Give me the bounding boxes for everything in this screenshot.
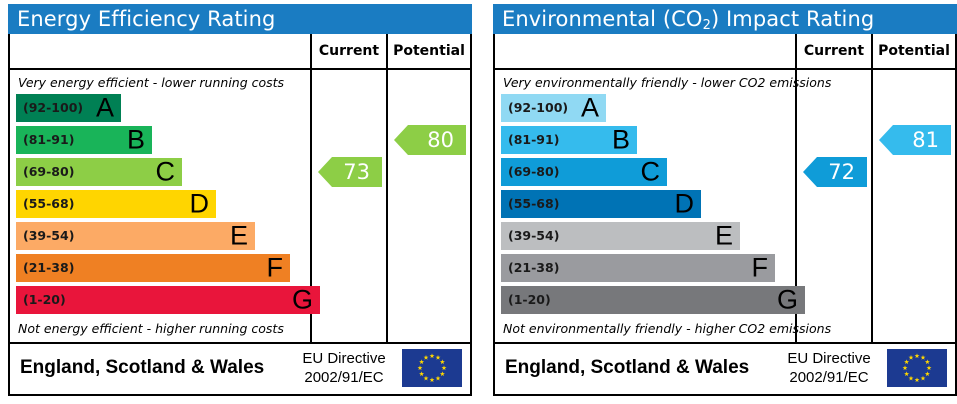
environmental-directive-line1: EU Directive [773, 349, 885, 368]
band-row-a: (92-100) A [501, 94, 606, 122]
environmental-current-rating-arrow: 72 [803, 157, 867, 187]
band-range-g: (1-20) [23, 286, 66, 314]
energy-current-rating-arrow: 73 [318, 157, 382, 187]
band-range-b: (81-91) [508, 126, 559, 154]
environmental-caption-top: Very environmentally friendly - lower CO… [503, 72, 793, 94]
column-divider-2 [871, 34, 873, 342]
environmental-caption-bottom: Not environmentally friendly - higher CO… [503, 318, 793, 340]
energy-potential-value: 80 [427, 128, 454, 152]
environmental-band-list: (92-100) A (81-91) B (69-80) C (55-68) D… [495, 94, 795, 318]
band-letter-b: B [612, 127, 630, 154]
energy-efficiency-title-text: Energy Efficiency Rating [17, 7, 275, 31]
band-row-c: (69-80) C [16, 158, 182, 186]
band-row-d: (55-68) D [16, 190, 216, 218]
band-range-f: (21-38) [23, 254, 74, 282]
band-row-g: (1-20) G [16, 286, 320, 314]
environmental-impact-table: Current Potential Very environmentally f… [493, 34, 957, 344]
energy-efficiency-panel: Energy Efficiency Rating Current Potenti… [8, 4, 472, 400]
energy-directive-line2: 2002/91/EC [288, 368, 400, 387]
environmental-footer: England, Scotland & Wales EU Directive 2… [493, 344, 957, 396]
environmental-current-value: 72 [828, 160, 855, 184]
energy-efficiency-table: Current Potential Very energy efficient … [8, 34, 472, 344]
band-row-b: (81-91) B [501, 126, 637, 154]
band-row-g: (1-20) G [501, 286, 805, 314]
environmental-title-suffix: ) Impact Rating [711, 7, 874, 31]
band-letter-e: E [715, 223, 733, 250]
environmental-caption-top-text: Very environmentally friendly - lower CO… [503, 75, 831, 90]
energy-footer: England, Scotland & Wales EU Directive 2… [8, 344, 472, 396]
header-potential: Potential [388, 34, 470, 68]
energy-caption-top: Very energy efficient - lower running co… [18, 72, 308, 94]
band-row-f: (21-38) F [16, 254, 290, 282]
band-row-b: (81-91) B [16, 126, 152, 154]
environmental-impact-panel: Environmental (CO2) Impact Rating Curren… [493, 4, 957, 400]
band-letter-c: C [641, 159, 661, 186]
environmental-potential-rating-arrow: 81 [879, 125, 951, 155]
band-row-d: (55-68) D [501, 190, 701, 218]
band-range-b: (81-91) [23, 126, 74, 154]
environmental-directive-line2: 2002/91/EC [773, 368, 885, 387]
eu-flag-icon [402, 349, 462, 387]
energy-band-list: (92-100) A (81-91) B (69-80) C (55-68) D… [10, 94, 310, 318]
energy-table-header-row: Current Potential [10, 34, 470, 70]
environmental-title-prefix: Environmental (CO [502, 7, 703, 31]
band-letter-g: G [292, 287, 313, 314]
band-letter-c: C [156, 159, 176, 186]
band-letter-e: E [230, 223, 248, 250]
band-letter-g: G [777, 287, 798, 314]
band-letter-d: D [675, 191, 695, 218]
band-range-g: (1-20) [508, 286, 551, 314]
band-range-d: (55-68) [23, 190, 74, 218]
band-range-a: (92-100) [23, 94, 83, 122]
band-letter-a: A [96, 95, 114, 122]
energy-caption-bottom: Not energy efficient - higher running co… [18, 318, 308, 340]
band-row-f: (21-38) F [501, 254, 775, 282]
column-divider-2 [386, 34, 388, 342]
band-letter-f: F [752, 255, 769, 282]
band-range-c: (69-80) [23, 158, 74, 186]
band-range-e: (39-54) [23, 222, 74, 250]
band-letter-a: A [581, 95, 599, 122]
header-current: Current [312, 34, 386, 68]
environmental-table-header-row: Current Potential [495, 34, 955, 70]
environmental-title-subscript: 2 [703, 18, 711, 33]
band-range-d: (55-68) [508, 190, 559, 218]
environmental-potential-value: 81 [912, 128, 939, 152]
band-range-e: (39-54) [508, 222, 559, 250]
eu-flag-stars [887, 349, 947, 387]
epc-ratings-page: Energy Efficiency Rating Current Potenti… [0, 0, 957, 404]
eu-flag-stars [402, 349, 462, 387]
band-letter-f: F [267, 255, 284, 282]
header-potential: Potential [873, 34, 955, 68]
band-row-a: (92-100) A [16, 94, 121, 122]
eu-flag-icon [887, 349, 947, 387]
energy-footer-region: England, Scotland & Wales [20, 344, 264, 392]
band-range-a: (92-100) [508, 94, 568, 122]
environmental-impact-title: Environmental (CO2) Impact Rating [493, 4, 957, 34]
energy-efficiency-title: Energy Efficiency Rating [8, 4, 472, 34]
environmental-footer-region: England, Scotland & Wales [505, 344, 749, 392]
band-letter-d: D [190, 191, 210, 218]
band-row-e: (39-54) E [501, 222, 740, 250]
energy-current-value: 73 [343, 160, 370, 184]
header-current: Current [797, 34, 871, 68]
band-range-f: (21-38) [508, 254, 559, 282]
energy-footer-directive: EU Directive 2002/91/EC [288, 349, 400, 387]
band-row-e: (39-54) E [16, 222, 255, 250]
environmental-footer-directive: EU Directive 2002/91/EC [773, 349, 885, 387]
band-letter-b: B [127, 127, 145, 154]
band-range-c: (69-80) [508, 158, 559, 186]
environmental-caption-bottom-text: Not environmentally friendly - higher CO… [503, 321, 831, 336]
energy-potential-rating-arrow: 80 [394, 125, 466, 155]
band-row-c: (69-80) C [501, 158, 667, 186]
energy-directive-line1: EU Directive [288, 349, 400, 368]
